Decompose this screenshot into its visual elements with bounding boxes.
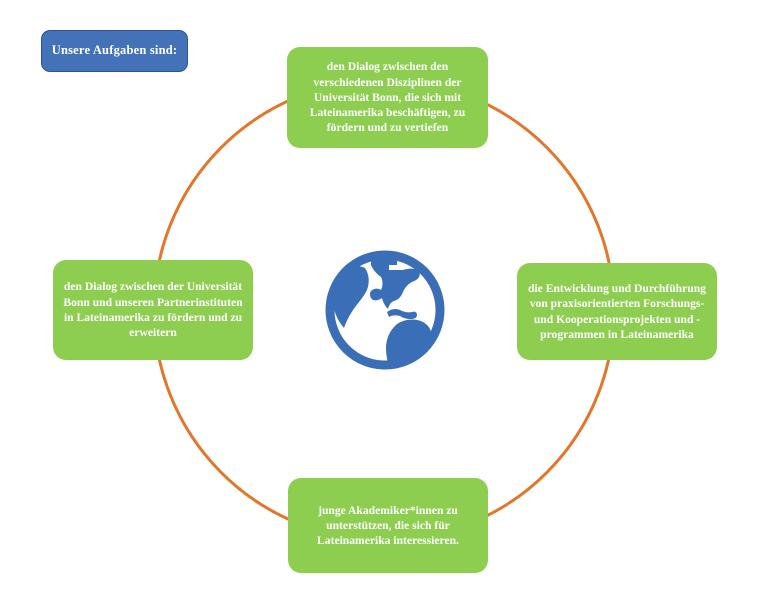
node-left[interactable]: den Dialog zwischen der Universität Bonn… [53,260,253,360]
diagram-canvas: Unsere Aufgaben sind: den Dialog zwische… [0,0,768,614]
node-right[interactable]: die Entwicklung und Durchführung von pra… [517,263,717,360]
node-left-label: den Dialog zwischen der Universität Bonn… [63,279,243,340]
heading-label: Unsere Aufgaben sind: [52,44,178,58]
heading-badge: Unsere Aufgaben sind: [41,30,188,72]
node-top-label: den Dialog zwischen den verschiedenen Di… [297,59,478,135]
node-right-label: die Entwicklung und Durchführung von pra… [527,281,707,342]
globe-icon [313,248,457,372]
node-top[interactable]: den Dialog zwischen den verschiedenen Di… [287,47,488,148]
node-bottom-label: junge Akademiker*innen zu unterstützen, … [298,503,478,549]
node-bottom[interactable]: junge Akademiker*innen zu unterstützen, … [288,478,488,573]
